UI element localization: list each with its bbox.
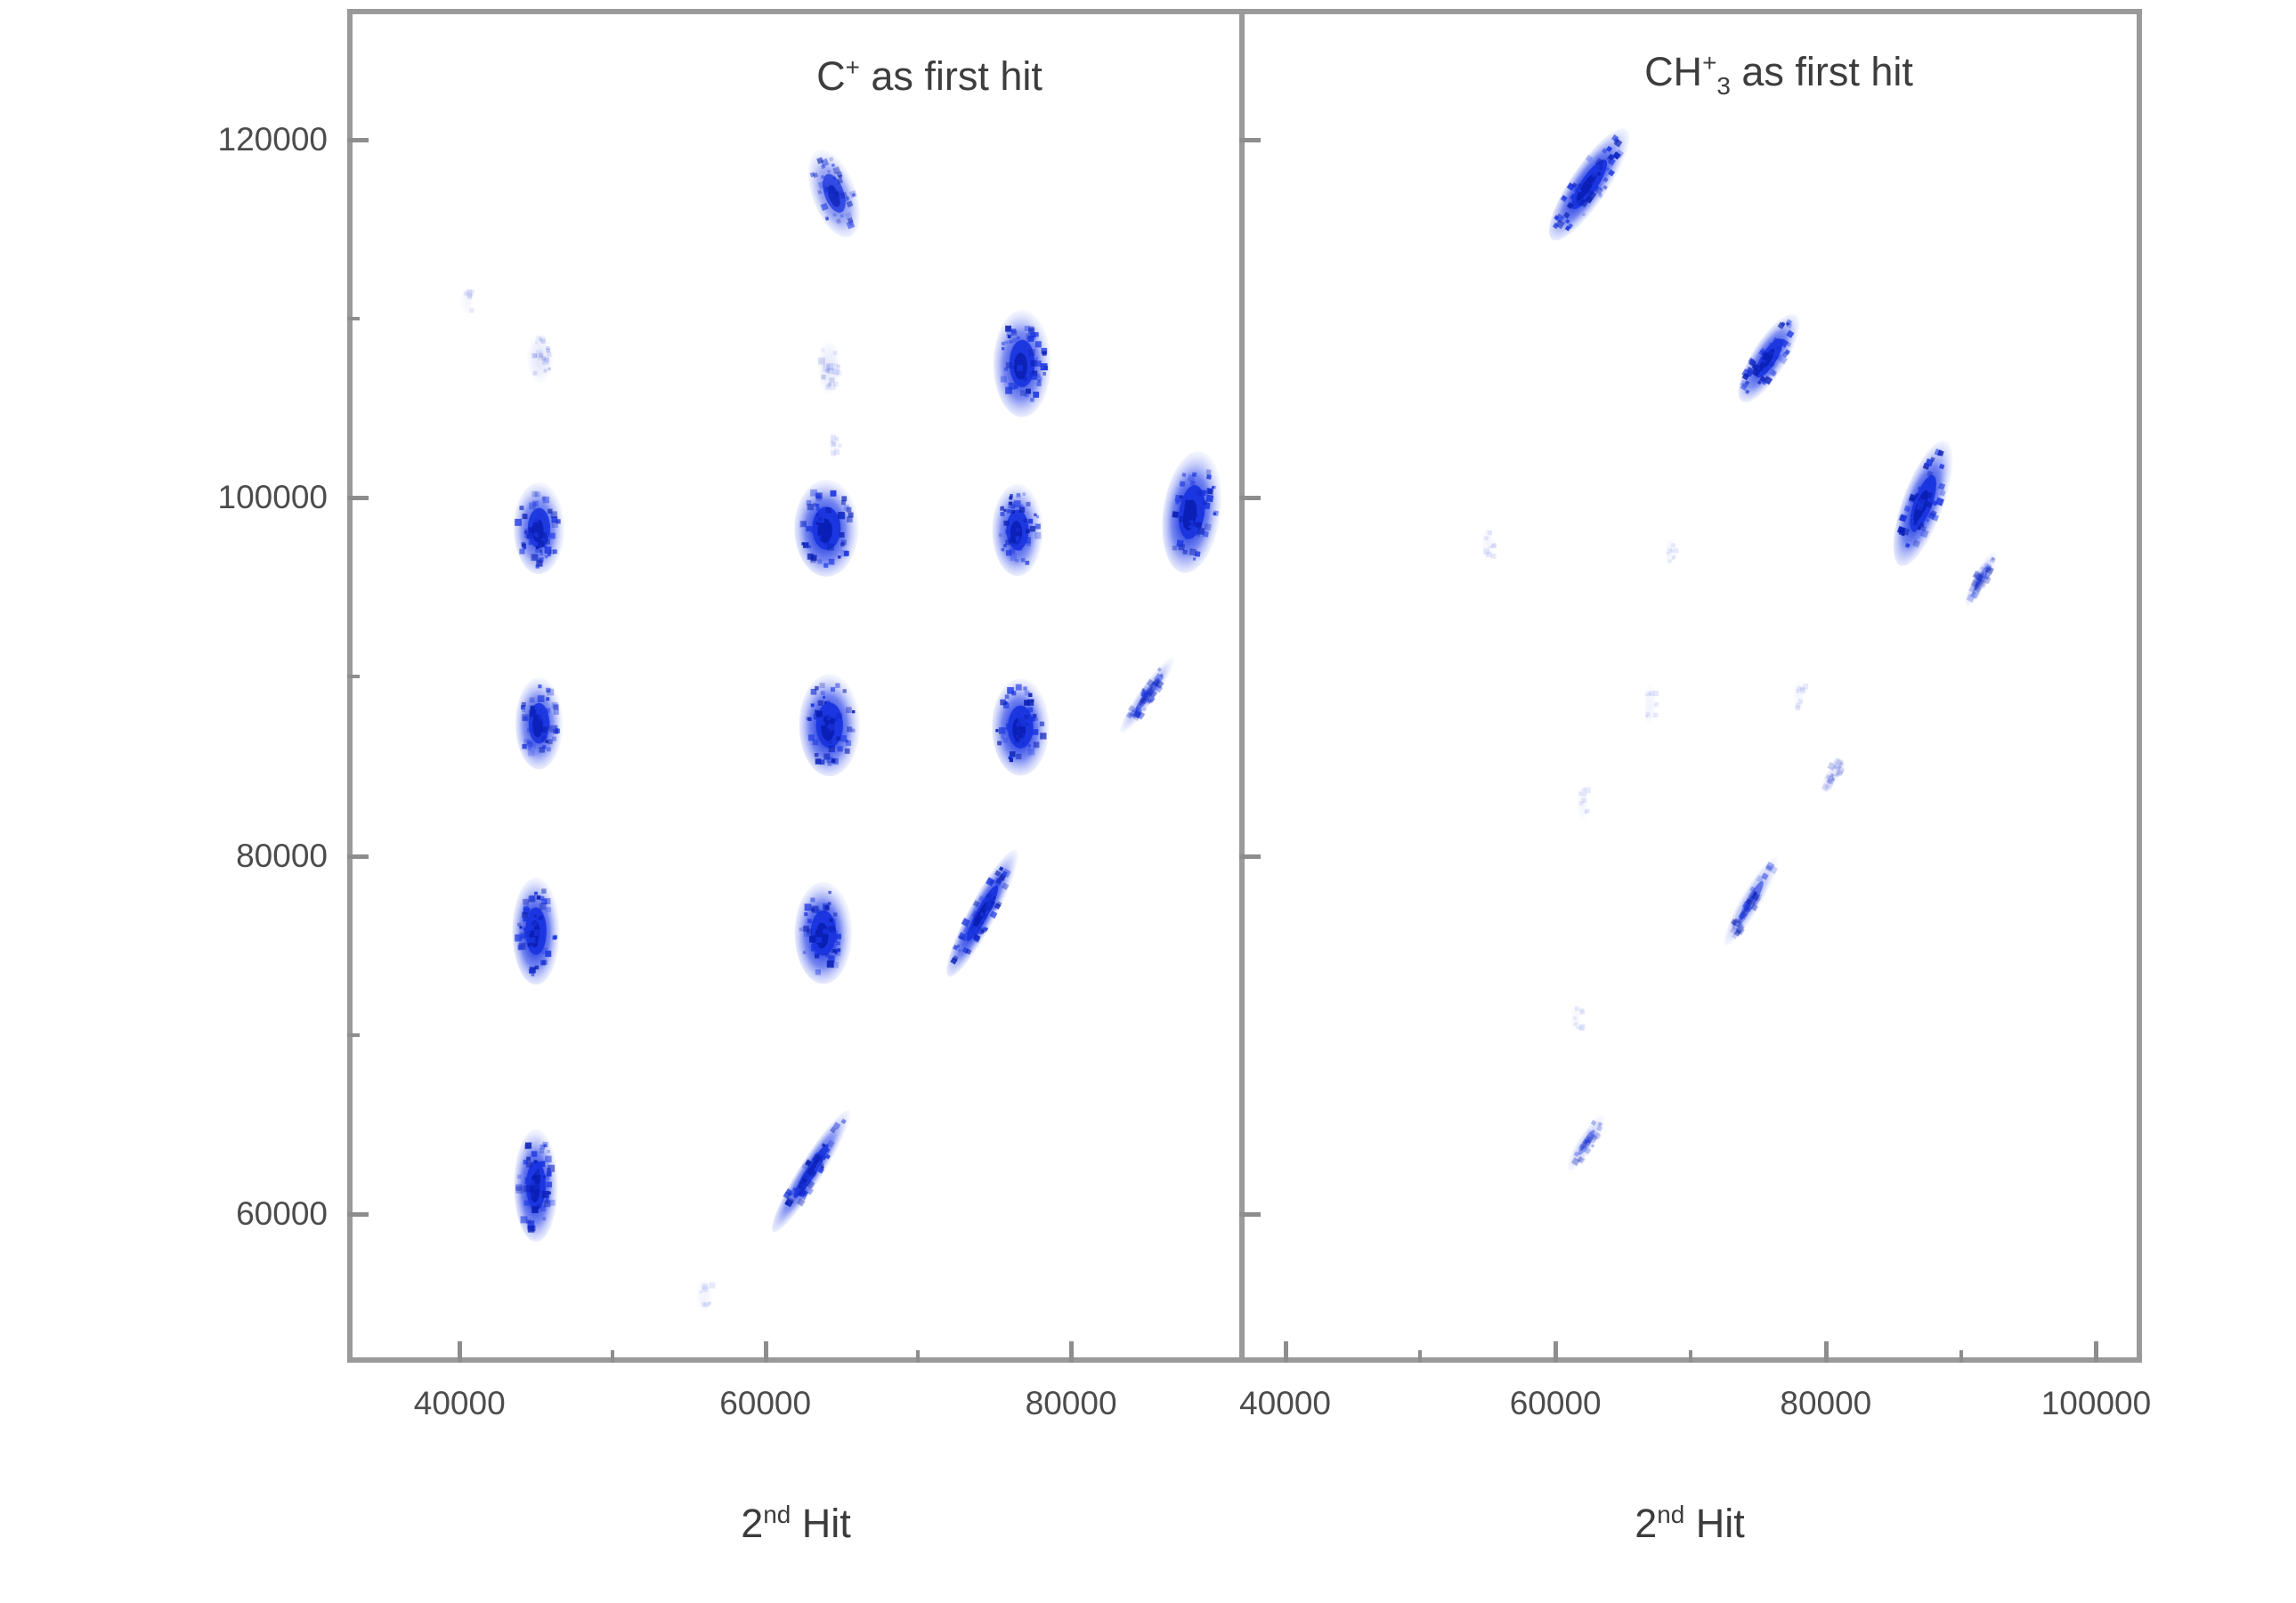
panel-title-right-species: CH — [1644, 49, 1702, 94]
density-blob — [514, 482, 564, 574]
density-blob — [937, 844, 1027, 983]
y-tick-label-100000: 100000 — [218, 479, 328, 516]
y-tick-major-60000 — [347, 1212, 369, 1217]
x-tick-minor-p1-70000 — [1689, 1350, 1692, 1363]
y-tick-minor-110000 — [347, 317, 360, 320]
x-tick-label-p0-80000: 80000 — [1026, 1385, 1117, 1422]
density-blob — [696, 1277, 716, 1313]
density-blob — [763, 1105, 859, 1238]
x-axis-title-right-rest: Hit — [1684, 1501, 1745, 1546]
density-blob — [1537, 119, 1642, 250]
density-blob — [1481, 524, 1497, 560]
density-blob — [1115, 652, 1181, 738]
panel-ch3-plus — [1245, 9, 2137, 1363]
x-tick-major-p1-60000 — [1554, 1341, 1558, 1363]
x-tick-major-p1-40000 — [1284, 1341, 1288, 1363]
density-blob — [1665, 536, 1679, 566]
x-axis-title-right-ord: nd — [1657, 1501, 1684, 1528]
x-axis-title-right-num: 2 — [1635, 1501, 1657, 1546]
x-tick-label-p1-100000: 100000 — [2041, 1385, 2151, 1422]
density-blob — [1577, 781, 1591, 822]
panel-title-right-rest: as first hit — [1731, 49, 1913, 94]
density-blob — [513, 878, 560, 984]
x-tick-label-p1-80000: 80000 — [1780, 1385, 1871, 1422]
x-tick-minor-p0-70000 — [916, 1350, 920, 1363]
density-blob — [1643, 681, 1659, 727]
density-blob — [993, 484, 1043, 576]
y-tick-divider-120000 — [1239, 138, 1261, 142]
density-blob — [798, 142, 871, 244]
density-blob — [992, 678, 1049, 775]
density-blob — [818, 339, 842, 395]
x-tick-major-p1-80000 — [1824, 1341, 1829, 1363]
x-tick-major-p1-100000 — [2094, 1341, 2098, 1363]
x-axis-title-left-rest: Hit — [791, 1501, 851, 1546]
density-blob — [827, 429, 841, 459]
density-blob — [1881, 433, 1965, 572]
density-blob — [1815, 753, 1849, 797]
figure-root: C+ as first hit CH+3 as first hit 2nd Hi… — [0, 0, 2296, 1603]
x-axis-title-right: 2nd Hit — [1635, 1501, 1745, 1547]
density-blob — [1155, 448, 1229, 577]
x-tick-minor-p1-90000 — [1959, 1350, 1963, 1363]
panel-title-left-rest: as first hit — [860, 53, 1043, 99]
panel-c-plus — [353, 9, 1239, 1363]
y-tick-label-120000: 120000 — [218, 121, 328, 158]
density-blob — [1959, 547, 2004, 610]
x-tick-major-p0-40000 — [458, 1341, 462, 1363]
x-tick-major-p0-80000 — [1069, 1341, 1074, 1363]
x-tick-label-p1-60000: 60000 — [1510, 1385, 1602, 1422]
y-tick-label-80000: 80000 — [236, 838, 328, 875]
density-blob — [994, 310, 1051, 417]
density-blob — [1717, 852, 1786, 951]
density-canvas-left — [353, 9, 1239, 1363]
x-tick-label-p0-40000: 40000 — [414, 1385, 506, 1422]
x-axis-title-left-ord: nd — [763, 1501, 791, 1528]
density-blob — [527, 333, 554, 384]
x-tick-label-p0-60000: 60000 — [719, 1385, 811, 1422]
density-blob — [799, 674, 860, 776]
density-blob — [1562, 1110, 1611, 1175]
y-tick-divider-80000 — [1239, 854, 1261, 859]
x-tick-major-p0-60000 — [764, 1341, 768, 1363]
density-canvas-right — [1245, 9, 2137, 1363]
panel-title-right-charge: + — [1702, 49, 1716, 77]
density-blob — [795, 882, 852, 984]
x-axis-title-left-num: 2 — [741, 1501, 763, 1546]
y-tick-divider-100000 — [1239, 496, 1261, 500]
density-blob — [1728, 306, 1811, 410]
density-blob — [794, 480, 858, 577]
y-tick-minor-70000 — [347, 1033, 360, 1037]
density-blob — [515, 677, 563, 769]
y-tick-divider-60000 — [1239, 1212, 1261, 1217]
y-tick-major-120000 — [347, 138, 369, 142]
density-blob — [1793, 676, 1808, 712]
y-tick-major-100000 — [347, 496, 369, 500]
x-axis-title-left: 2nd Hit — [741, 1501, 851, 1547]
x-tick-label-p1-40000: 40000 — [1239, 1385, 1331, 1422]
panel-title-right-count: 3 — [1716, 72, 1731, 100]
y-tick-label-60000: 60000 — [236, 1195, 328, 1233]
density-blob — [460, 286, 475, 316]
density-blob — [514, 1129, 557, 1242]
panel-title-left: C+ as first hit — [816, 53, 1043, 100]
density-blob — [1570, 1002, 1585, 1032]
x-tick-minor-p0-50000 — [611, 1350, 614, 1363]
y-tick-major-80000 — [347, 854, 369, 859]
panel-title-left-charge: + — [846, 53, 860, 81]
panel-title-left-species: C — [816, 53, 846, 99]
x-tick-minor-p1-50000 — [1418, 1350, 1422, 1363]
y-tick-minor-90000 — [347, 675, 360, 678]
panel-title-right: CH+3 as first hit — [1644, 49, 1913, 101]
